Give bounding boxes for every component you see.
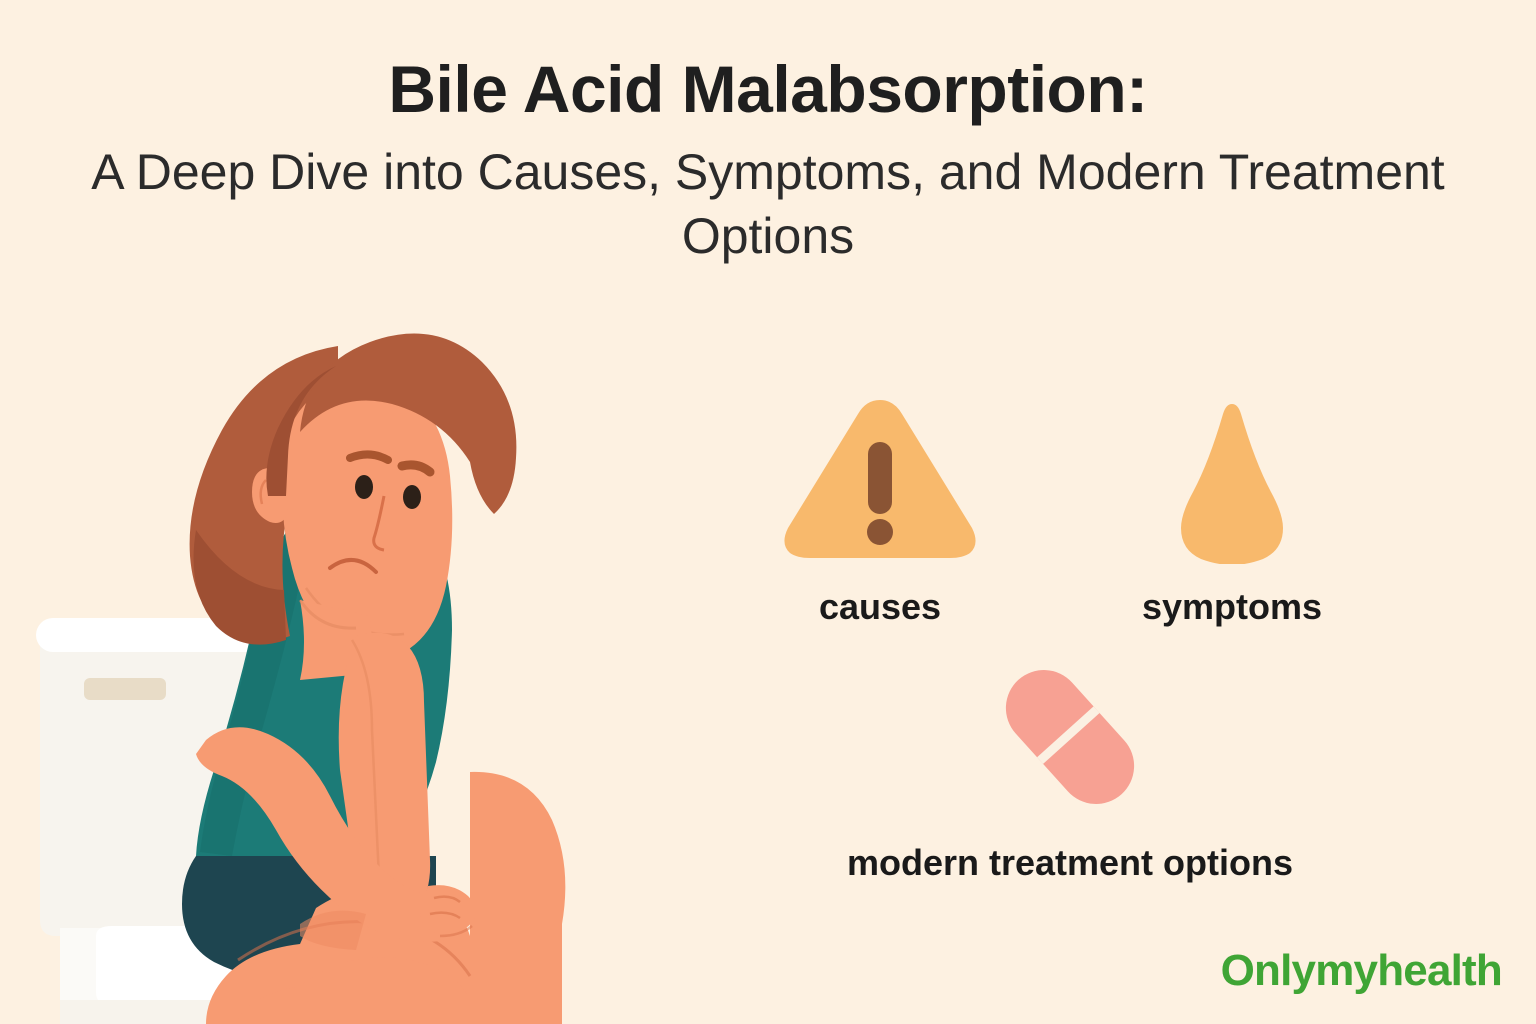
hand-on-knee bbox=[420, 885, 475, 934]
toilet-flush-button bbox=[84, 678, 166, 700]
pill-capsule-icon bbox=[800, 650, 1340, 822]
icon-caption-treatment: modern treatment options bbox=[800, 842, 1340, 884]
onlymyhealth-logo[interactable]: Onlymyhealth bbox=[1221, 946, 1502, 996]
eye-right bbox=[403, 485, 421, 509]
page-subtitle: A Deep Dive into Causes, Symptoms, and M… bbox=[58, 140, 1478, 268]
infographic-canvas: Bile Acid Malabsorption: A Deep Dive int… bbox=[0, 0, 1536, 1024]
icon-block-symptoms: symptoms bbox=[1072, 392, 1392, 628]
page-title: Bile Acid Malabsorption: bbox=[50, 56, 1486, 122]
header: Bile Acid Malabsorption: A Deep Dive int… bbox=[50, 56, 1486, 268]
illustration-woman-on-toilet bbox=[0, 300, 760, 1024]
icon-block-treatment: modern treatment options bbox=[800, 650, 1340, 884]
figure-far-leg bbox=[470, 772, 565, 1024]
icon-caption-symptoms: symptoms bbox=[1072, 586, 1392, 628]
warning-triangle-icon bbox=[720, 392, 1040, 564]
water-drop-icon bbox=[1072, 392, 1392, 564]
icon-caption-causes: causes bbox=[720, 586, 1040, 628]
icon-block-causes: causes bbox=[720, 392, 1040, 628]
eye-left bbox=[355, 475, 373, 499]
